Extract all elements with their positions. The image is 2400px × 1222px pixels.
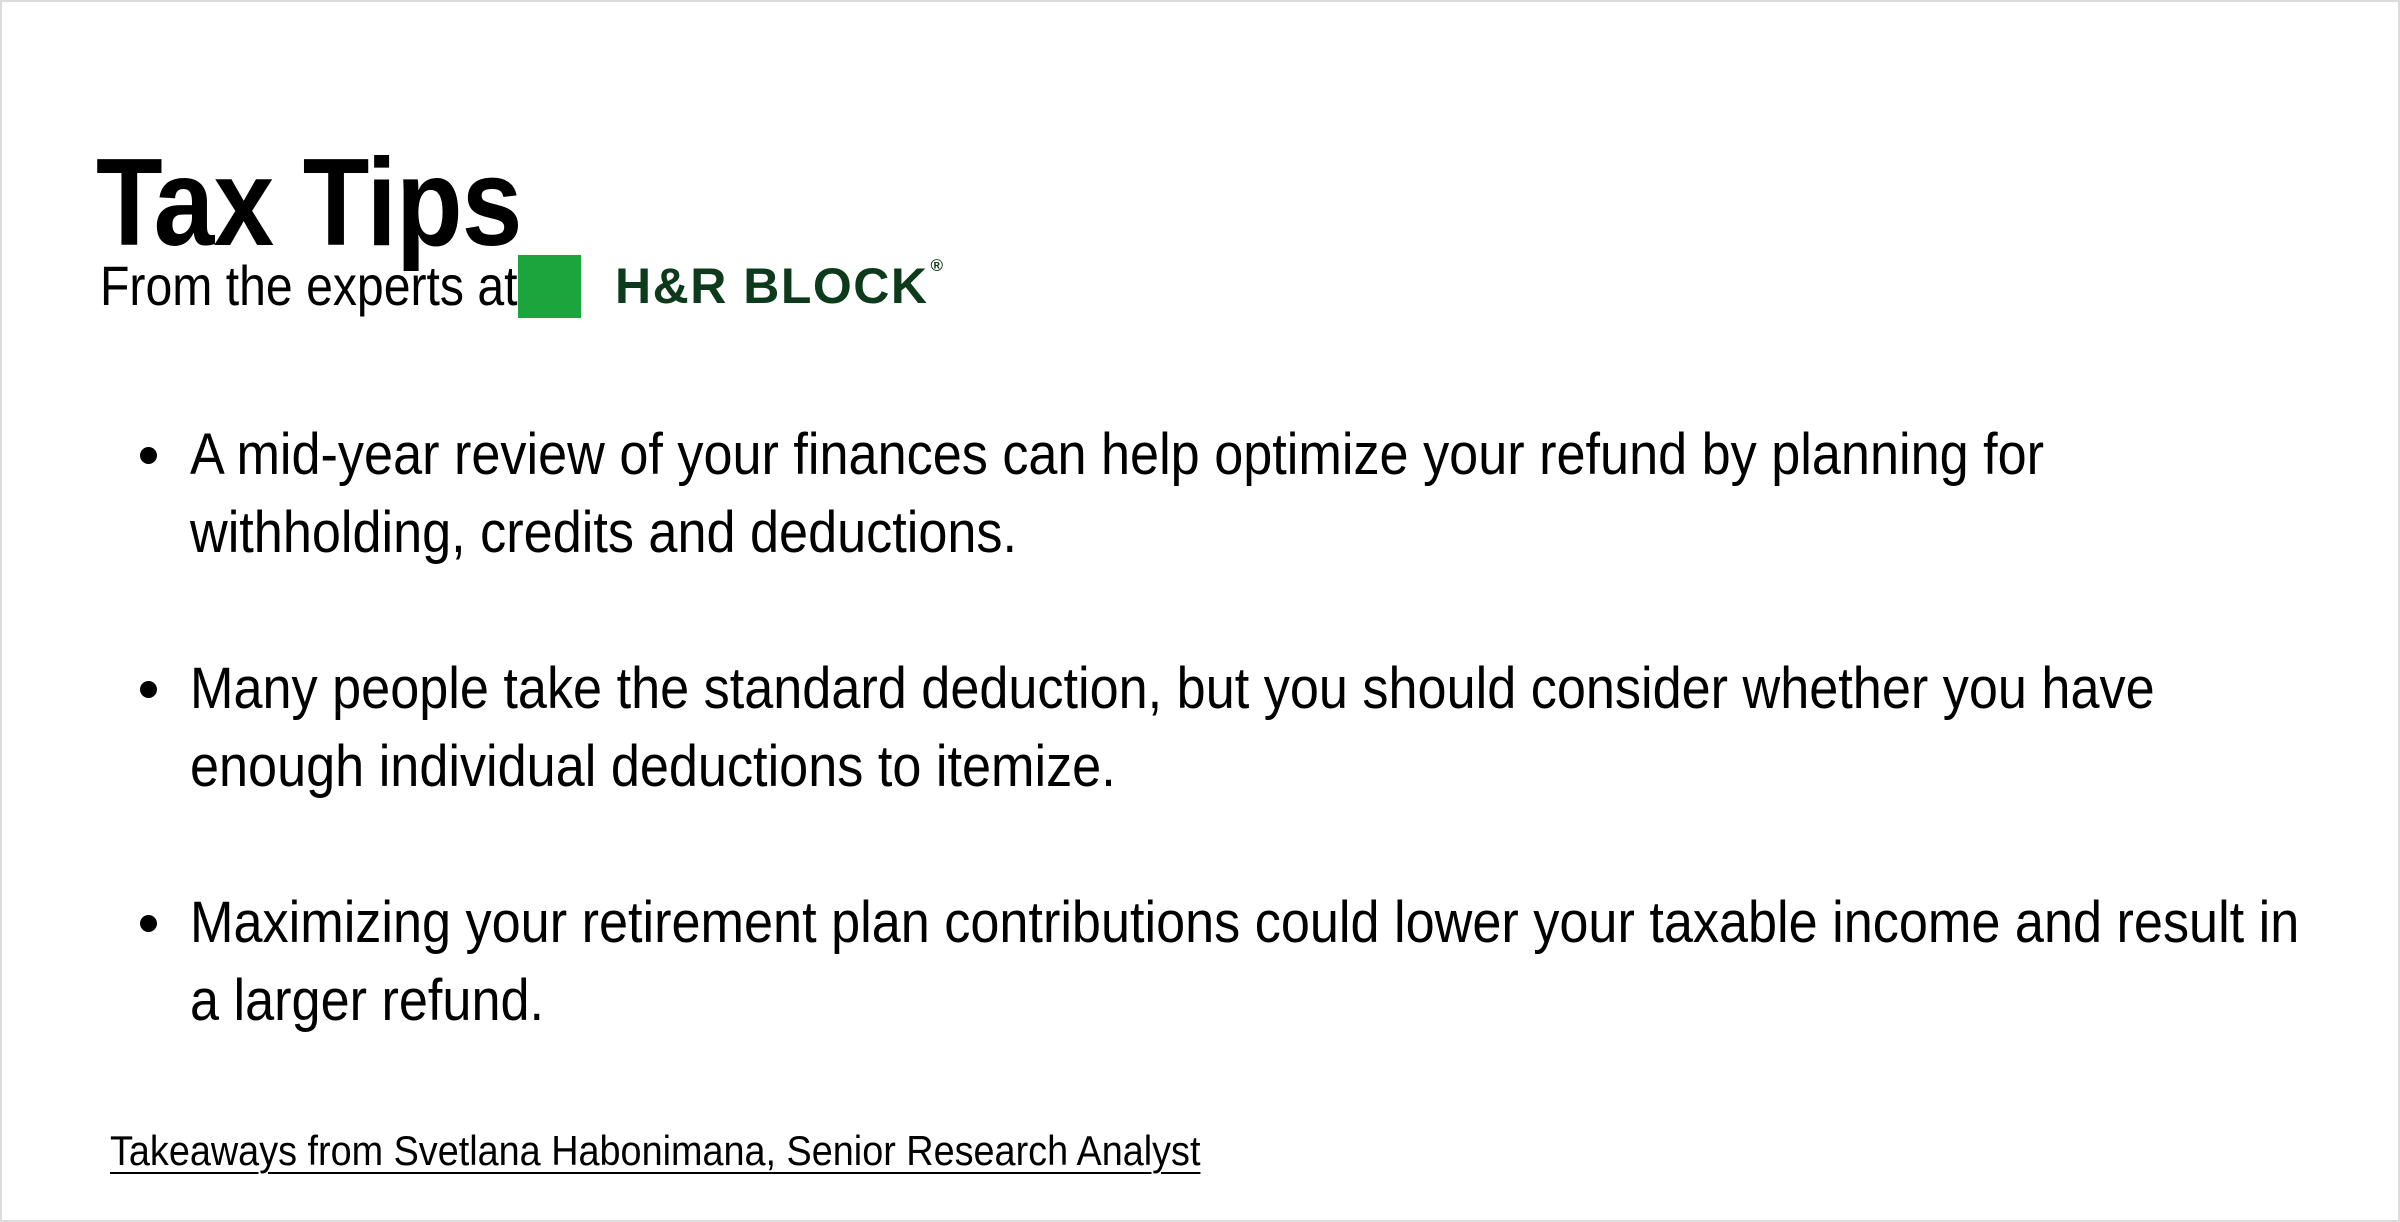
list-item-text: Many people take the standard deduction,… — [190, 650, 2318, 806]
slide-canvas: Tax Tips From the experts at H&R BLOCK® … — [0, 0, 2400, 1222]
list-item: A mid-year review of your finances can h… — [130, 416, 2320, 572]
hr-block-logo: H&R BLOCK® — [518, 255, 941, 318]
registered-trademark-icon: ® — [930, 256, 943, 275]
hr-block-wordmark: H&R BLOCK® — [615, 261, 941, 311]
hr-block-wordmark-text: H&R BLOCK — [615, 258, 928, 314]
bullet-dot-icon — [140, 681, 157, 698]
list-item-text: A mid-year review of your finances can h… — [190, 416, 2318, 572]
byline: From the experts at H&R BLOCK® — [100, 246, 941, 326]
tips-list: A mid-year review of your finances can h… — [130, 416, 2320, 1040]
attribution-caption: Takeaways from Svetlana Habonimana, Seni… — [110, 1130, 1200, 1172]
list-item: Maximizing your retirement plan contribu… — [130, 884, 2320, 1040]
bullet-dot-icon — [140, 447, 157, 464]
list-item-text: Maximizing your retirement plan contribu… — [190, 884, 2318, 1040]
byline-label: From the experts at — [100, 258, 513, 314]
list-item: Many people take the standard deduction,… — [130, 650, 2320, 806]
bullet-dot-icon — [140, 915, 157, 932]
green-square-icon — [518, 255, 581, 318]
